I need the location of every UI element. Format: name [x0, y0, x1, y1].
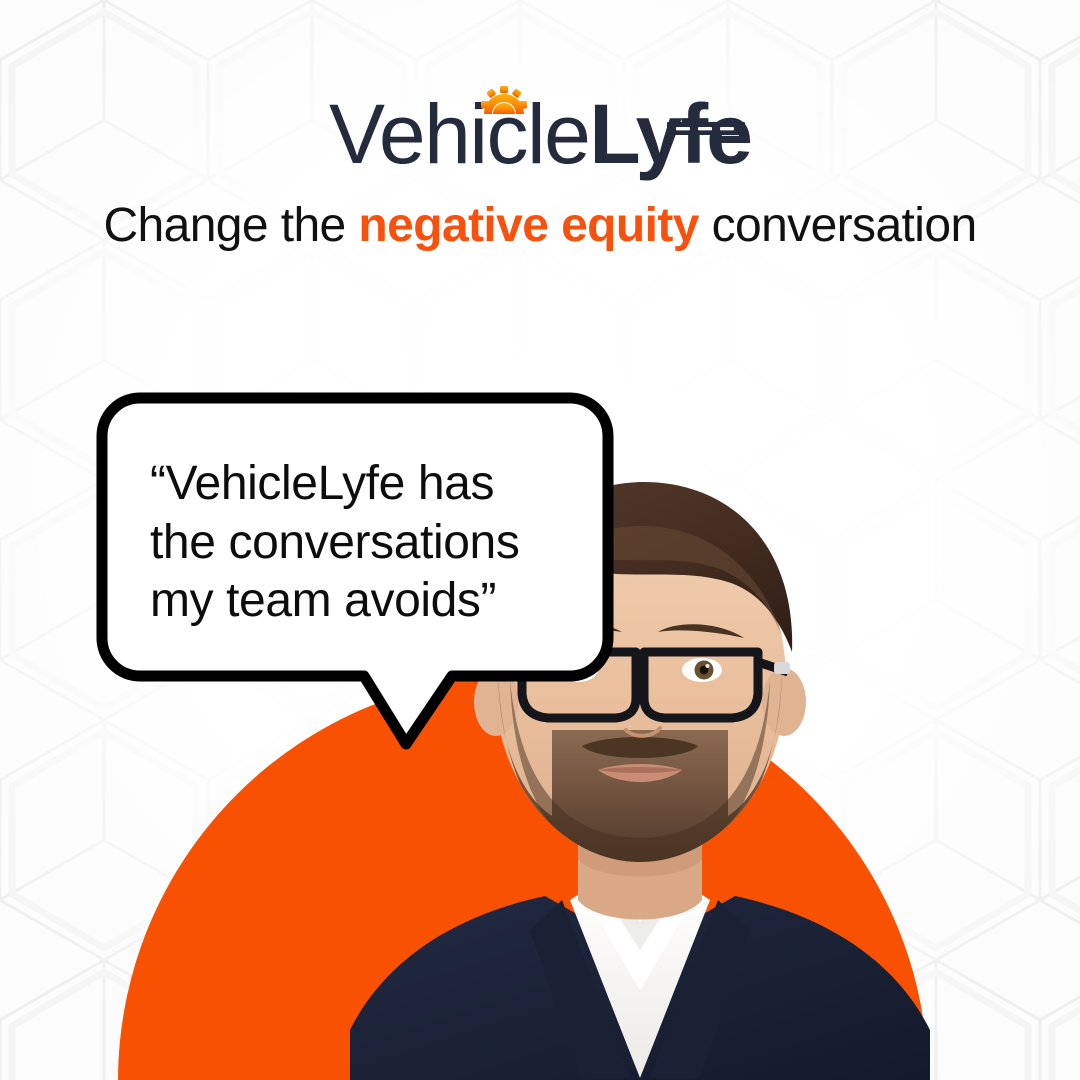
tagline-highlight: negative equity	[358, 199, 698, 252]
tagline: Change the negative equity conversation	[0, 198, 1080, 253]
gear-sun-icon	[481, 86, 527, 116]
tagline-before: Change the	[103, 199, 358, 252]
quote-text: “VehicleLyfe has the conversations my te…	[150, 455, 570, 631]
tagline-after: conversation	[699, 199, 977, 252]
logo-word-vehicle: Vehicle	[329, 87, 589, 181]
dashed-road-icon	[667, 122, 745, 135]
brand-logo: VehicleLyfe	[0, 92, 1080, 178]
promo-canvas: “VehicleLyfe has the conversations my te…	[0, 0, 1080, 1080]
